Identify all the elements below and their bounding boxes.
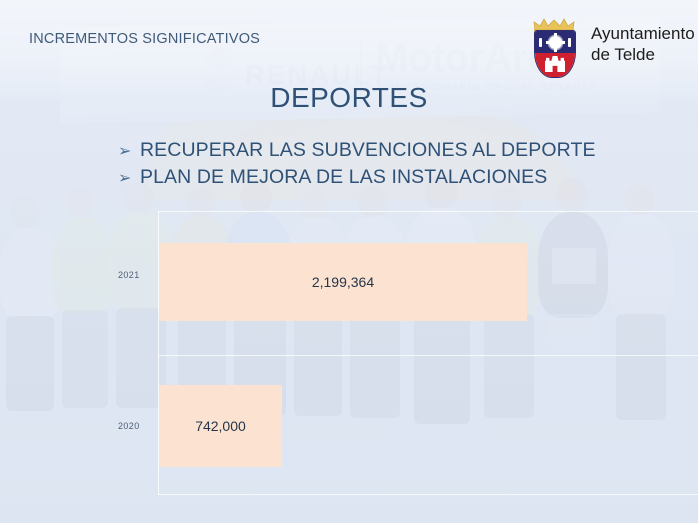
shield-icon xyxy=(534,30,576,78)
sun-charge-icon xyxy=(549,36,562,49)
brand-line-2: de Telde xyxy=(591,45,695,66)
brand-line-1: Ayuntamiento xyxy=(591,24,695,45)
shield-charge-left xyxy=(539,38,542,47)
bullet-list: ➢ RECUPERAR LAS SUBVENCIONES AL DEPORTE … xyxy=(118,139,596,193)
list-item-label: RECUPERAR LAS SUBVENCIONES AL DEPORTE xyxy=(140,139,596,162)
gridline xyxy=(158,494,698,495)
kicker-text: INCREMENTOS SIGNIFICATIVOS xyxy=(29,31,260,47)
brand-wordmark: Ayuntamiento de Telde xyxy=(591,24,695,65)
list-item-label: PLAN DE MEJORA DE LAS INSTALACIONES xyxy=(140,166,547,189)
gridline xyxy=(158,211,698,212)
bar-chart: 2021 2020 2,199,364 742,000 xyxy=(100,200,698,523)
page-title: DEPORTES xyxy=(0,82,698,114)
shield-charge-right xyxy=(568,38,571,47)
category-label-2021: 2021 xyxy=(118,270,140,280)
bar-value-label-2021: 2,199,364 xyxy=(159,274,527,290)
bar-value-label-2020: 742,000 xyxy=(159,418,282,434)
list-item: ➢ PLAN DE MEJORA DE LAS INSTALACIONES xyxy=(118,166,596,189)
arrow-bullet-icon: ➢ xyxy=(118,144,140,160)
arrow-bullet-icon: ➢ xyxy=(118,171,140,187)
slide: RENAULT MotorArea CONCESIONARIO OFICIAL … xyxy=(0,0,698,523)
coat-of-arms-icon xyxy=(525,18,583,80)
plot-area: 2,199,364 742,000 xyxy=(158,211,698,495)
list-item: ➢ RECUPERAR LAS SUBVENCIONES AL DEPORTE xyxy=(118,139,596,162)
bar-2021[interactable]: 2,199,364 xyxy=(159,243,527,321)
bar-2020[interactable]: 742,000 xyxy=(159,385,282,467)
category-label-2020: 2020 xyxy=(118,421,140,431)
brand-block: Ayuntamiento de Telde xyxy=(525,18,690,82)
gridline xyxy=(158,355,698,356)
